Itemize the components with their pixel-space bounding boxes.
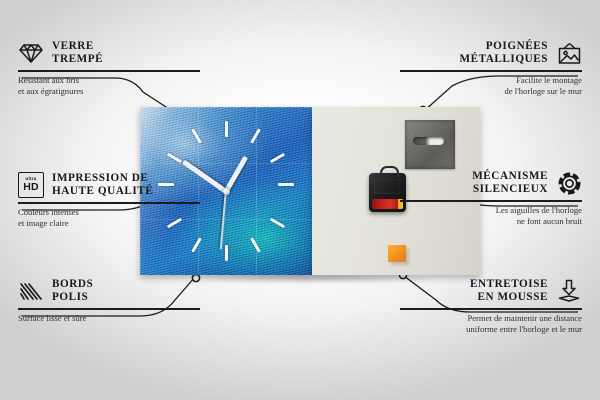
feature-divider bbox=[400, 70, 582, 72]
clock-tick bbox=[191, 237, 202, 252]
feature-title-line1: ENTRETOISE bbox=[470, 278, 548, 291]
feature-title-line1: VERRE bbox=[52, 40, 103, 53]
mechanism-hanger-loop bbox=[380, 166, 399, 178]
clock-second-hand bbox=[220, 191, 227, 249]
feature-divider bbox=[18, 70, 200, 72]
feature-divider bbox=[400, 308, 582, 310]
feature-sub-line2: ne font aucun bruit bbox=[400, 216, 582, 227]
feature-sub-line1: Couleurs intenses bbox=[18, 207, 200, 218]
clock-tick bbox=[167, 153, 182, 164]
down-arrow-stack-icon bbox=[556, 278, 582, 304]
gear-icon bbox=[556, 170, 582, 196]
hd-badge-main-label: HD bbox=[23, 182, 39, 193]
clock-tick bbox=[225, 121, 228, 137]
diamond-icon bbox=[18, 40, 44, 66]
feature-title-line2: POLIS bbox=[52, 291, 93, 304]
foam-spacer bbox=[388, 245, 406, 262]
ultra-hd-badge-icon: ultra HD bbox=[18, 172, 44, 198]
clock-tick bbox=[278, 183, 294, 186]
feature-verre-trempe: VERRE TREMPÉ Résistant aux bris et aux é… bbox=[18, 40, 200, 97]
feature-title-line2: HAUTE QUALITÉ bbox=[52, 185, 153, 198]
mechanism-housing-detail bbox=[374, 179, 400, 194]
clock-tick bbox=[225, 245, 228, 261]
feature-sub-line1: Surface lisse et sûre bbox=[18, 313, 200, 324]
feature-sub-line1: Facilite le montage bbox=[400, 75, 582, 86]
clock-tick bbox=[250, 128, 261, 143]
feature-title-line1: MÉCANISME bbox=[472, 170, 548, 183]
clock-tick bbox=[270, 153, 285, 164]
feature-divider bbox=[18, 308, 200, 310]
feature-sub-line2: de l'horloge sur le mur bbox=[400, 86, 582, 97]
feature-impression-haute-qualite: ultra HD IMPRESSION DE HAUTE QUALITÉ Cou… bbox=[18, 172, 200, 229]
feature-title-line2: EN MOUSSE bbox=[470, 291, 548, 304]
feature-sub-line1: Les aiguilles de l'horloge bbox=[400, 205, 582, 216]
clock-tick bbox=[191, 128, 202, 143]
feature-sub-line1: Permet de maintenir une distance bbox=[400, 313, 582, 324]
feature-title-line2: TREMPÉ bbox=[52, 53, 103, 66]
clock-hour-hand bbox=[224, 156, 248, 193]
feature-sub-line1: Résistant aux bris bbox=[18, 75, 200, 86]
wall-frame-hanger-icon bbox=[556, 40, 582, 66]
feature-entretoise-en-mousse: ENTRETOISE EN MOUSSE Permet de maintenir… bbox=[400, 278, 582, 335]
feature-title-line1: BORDS bbox=[52, 278, 93, 291]
feature-title-line2: MÉTALLIQUES bbox=[459, 53, 548, 66]
feature-divider bbox=[18, 202, 200, 204]
clock-tick bbox=[270, 218, 285, 229]
feature-sub-line2: et aux égratignures bbox=[18, 86, 200, 97]
feature-title-line2: SILENCIEUX bbox=[472, 183, 548, 196]
feature-title-line1: IMPRESSION DE bbox=[52, 172, 153, 185]
feature-divider bbox=[400, 200, 582, 202]
feature-poignees-metalliques: POIGNÉES MÉTALLIQUES Facilite le montage… bbox=[400, 40, 582, 97]
mechanism-battery bbox=[372, 199, 403, 209]
feature-sub-line2: uniforme entre l'horloge et le mur bbox=[400, 324, 582, 335]
metal-hanger-plate bbox=[405, 120, 455, 169]
feature-title-line1: POIGNÉES bbox=[459, 40, 548, 53]
clock-center-cap bbox=[223, 188, 230, 195]
feature-bords-polis: BORDS POLIS Surface lisse et sûre bbox=[18, 278, 200, 324]
hanger-slot bbox=[413, 137, 444, 145]
polished-edges-icon bbox=[18, 278, 44, 304]
clock-tick bbox=[250, 237, 261, 252]
feature-mecanisme-silencieux: MÉCANISME SILENCIEUX Les aiguilles de l'… bbox=[400, 170, 582, 227]
feature-sub-line2: et image claire bbox=[18, 218, 200, 229]
infographic-canvas: VERRE TREMPÉ Résistant aux bris et aux é… bbox=[0, 0, 600, 400]
